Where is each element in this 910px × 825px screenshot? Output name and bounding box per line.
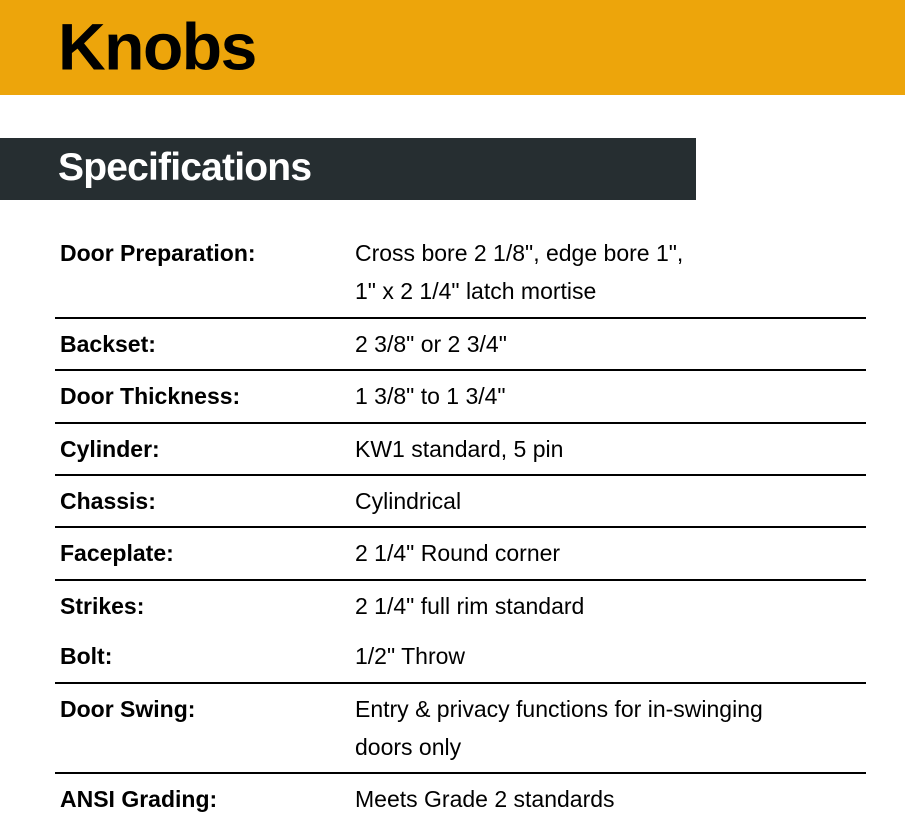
table-row: Chassis:Cylindrical	[55, 475, 866, 527]
spec-value-line: 1" x 2 1/4" latch mortise	[355, 272, 866, 310]
spec-value-line: Entry & privacy functions for in-swingin…	[355, 690, 866, 728]
spec-value-line: 1/2" Throw	[355, 637, 866, 675]
spec-value-line: KW1 standard, 5 pin	[355, 430, 866, 468]
spec-value: Cylindrical	[355, 475, 866, 527]
spec-value-line: Meets Grade 2 standards	[355, 780, 866, 818]
spec-value-line: 2 1/4" Round corner	[355, 534, 866, 572]
spec-label: Door Thickness:	[55, 370, 355, 422]
spec-value: 2 1/4" full rim standard	[355, 580, 866, 631]
table-row: Door Swing:Entry & privacy functions for…	[55, 683, 866, 774]
table-row: ANSI Grading:Meets Grade 2 standards	[55, 773, 866, 824]
spec-value-line: Cylindrical	[355, 482, 866, 520]
table-row: Bolt:1/2" Throw	[55, 631, 866, 682]
spec-value: 1/2" Throw	[355, 631, 866, 682]
spec-value: Meets Grade 2 standards	[355, 773, 866, 824]
spec-value: Entry & privacy functions for in-swingin…	[355, 683, 866, 774]
spec-label: ANSI Grading:	[55, 773, 355, 824]
spec-value-line: doors only	[355, 728, 866, 766]
table-row: Backset:2 3/8" or 2 3/4"	[55, 318, 866, 370]
table-row: Strikes:2 1/4" full rim standard	[55, 580, 866, 631]
spec-value-line: 2 1/4" full rim standard	[355, 587, 866, 625]
table-row: Door Preparation:Cross bore 2 1/8", edge…	[55, 228, 866, 318]
spec-label: Door Preparation:	[55, 228, 355, 318]
section-title: Specifications	[58, 148, 311, 187]
spec-label: Chassis:	[55, 475, 355, 527]
table-row: Door Thickness:1 3/8" to 1 3/4"	[55, 370, 866, 422]
spec-label: Door Swing:	[55, 683, 355, 774]
spec-value: 1 3/8" to 1 3/4"	[355, 370, 866, 422]
spec-value: 2 1/4" Round corner	[355, 527, 866, 579]
spec-value-line: 2 3/8" or 2 3/4"	[355, 325, 866, 363]
specifications-section-header: Specifications	[0, 138, 696, 200]
page-title: Knobs	[58, 13, 256, 79]
table-row: Faceplate:2 1/4" Round corner	[55, 527, 866, 579]
spec-label: Faceplate:	[55, 527, 355, 579]
table-row: Cylinder:KW1 standard, 5 pin	[55, 423, 866, 475]
specifications-table: Door Preparation:Cross bore 2 1/8", edge…	[55, 228, 866, 825]
spec-label: Bolt:	[55, 631, 355, 682]
spec-label: Backset:	[55, 318, 355, 370]
page-title-banner: Knobs	[0, 0, 905, 95]
spec-label: Strikes:	[55, 580, 355, 631]
spec-value-line: 1 3/8" to 1 3/4"	[355, 377, 866, 415]
spec-label: Cylinder:	[55, 423, 355, 475]
specifications-table-body: Door Preparation:Cross bore 2 1/8", edge…	[55, 228, 866, 825]
spec-value: 2 3/8" or 2 3/4"	[355, 318, 866, 370]
spec-value-line: Cross bore 2 1/8", edge bore 1",	[355, 234, 866, 272]
spec-value: KW1 standard, 5 pin	[355, 423, 866, 475]
spec-value: Cross bore 2 1/8", edge bore 1",1" x 2 1…	[355, 228, 866, 318]
